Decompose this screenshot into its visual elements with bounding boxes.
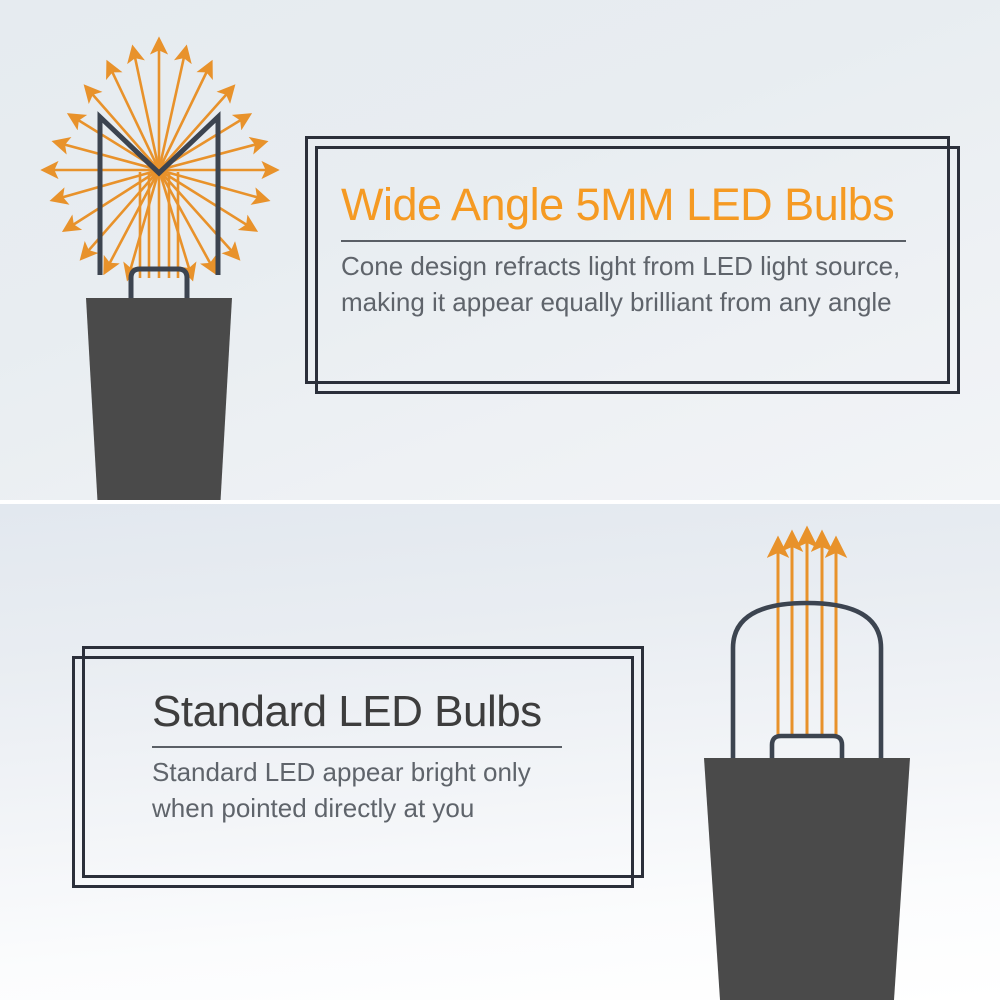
standard-led-bulb-illustration: [668, 508, 968, 1000]
wide-angle-panel: Wide Angle 5MM LED Bulbs Cone design ref…: [0, 0, 1000, 500]
body-line: when pointed directly at you: [152, 790, 622, 826]
title-divider-rule: [341, 240, 906, 242]
body-line: Cone design refracts light from LED ligh…: [341, 248, 921, 284]
body-line: Standard LED appear bright only: [152, 754, 622, 790]
standard-card-body: Standard LED appear bright only when poi…: [152, 754, 622, 826]
card-content: Standard LED Bulbs Standard LED appear b…: [152, 686, 622, 846]
wide-angle-card-title: Wide Angle 5MM LED Bulbs: [341, 178, 921, 232]
wide-angle-info-card: Wide Angle 5MM LED Bulbs Cone design ref…: [305, 136, 965, 398]
card-content: Wide Angle 5MM LED Bulbs Cone design ref…: [341, 178, 921, 348]
standard-card-title: Standard LED Bulbs: [152, 686, 622, 738]
title-divider-rule: [152, 746, 562, 748]
standard-info-card: Standard LED Bulbs Standard LED appear b…: [72, 646, 672, 894]
product-comparison-infographic: Wide Angle 5MM LED Bulbs Cone design ref…: [0, 0, 1000, 1000]
body-line: making it appear equally brilliant from …: [341, 284, 921, 320]
wide-angle-led-bulb-illustration: [20, 10, 320, 500]
wide-angle-card-body: Cone design refracts light from LED ligh…: [341, 248, 921, 320]
standard-panel: Standard LED Bulbs Standard LED appear b…: [0, 504, 1000, 1000]
